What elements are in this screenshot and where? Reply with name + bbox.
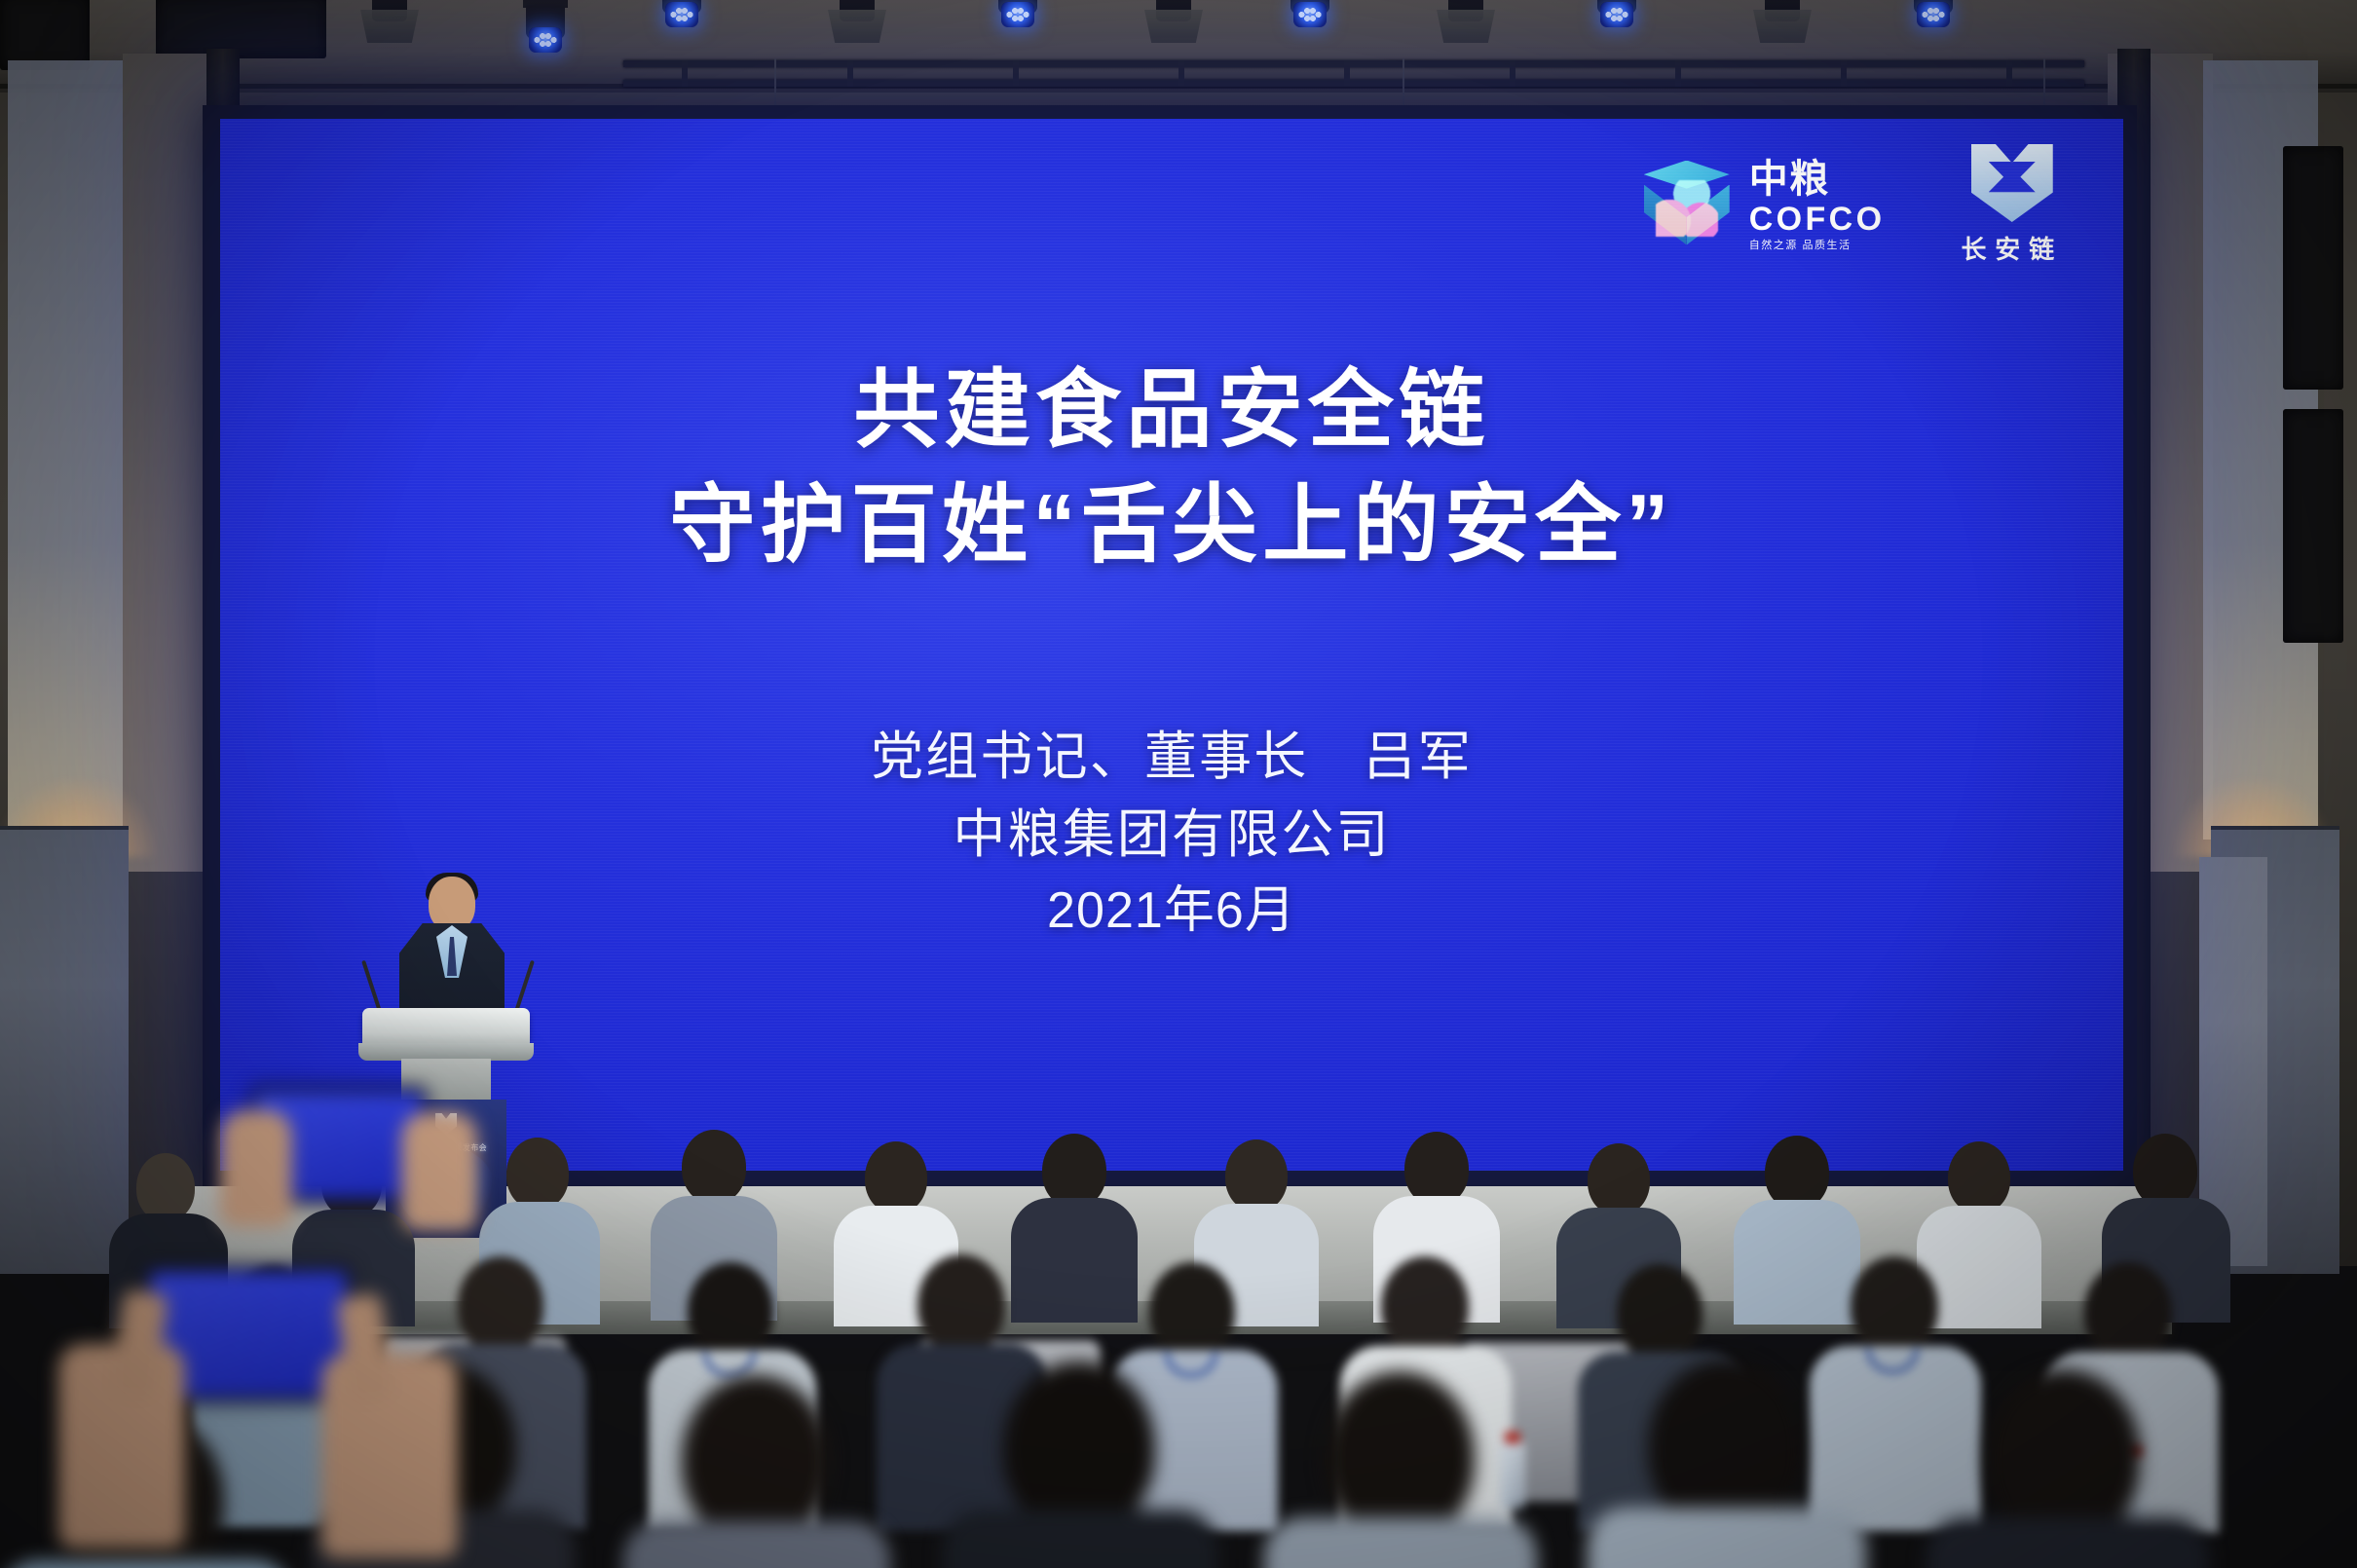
wall-speaker (2283, 409, 2343, 643)
right-wall-assembly (2114, 0, 2357, 1266)
left-wall-assembly (0, 0, 234, 1266)
cofco-english-name: COFCO (1749, 203, 1886, 236)
audience-body (1927, 1517, 2209, 1568)
audience (0, 1120, 2357, 1568)
audience-head (1617, 1264, 1702, 1362)
audience-head (1948, 1141, 2010, 1213)
audience-body (1011, 1198, 1138, 1323)
slide-subtitle-speaker: 党组书记、董事长 吕军 (220, 713, 2123, 790)
audience-head (1404, 1132, 1469, 1206)
cofco-logo: 中粮 COFCO 自然之源 品质生活 (1644, 160, 1886, 251)
wall-speaker (2283, 146, 2343, 390)
audience-head (1325, 1371, 1475, 1541)
changan-chain-name: 长安链 (1961, 230, 2063, 266)
slide-title-line-2: 守护百姓“舌尖上的安全” (220, 456, 2123, 579)
cofco-cube-icon (1644, 161, 1730, 250)
slide-logo-group: 中粮 COFCO 自然之源 品质生活 长安链 (1644, 144, 2063, 266)
slide-subtitle-company: 中粮集团有限公司 (220, 791, 2123, 868)
audience-body (1810, 1346, 1981, 1531)
audience-head (1851, 1256, 1938, 1356)
conference-hall-photo: 中粮 COFCO 自然之源 品质生活 长安链 共建食品安全链 守护百姓“舌尖上的… (0, 0, 2357, 1568)
truss-rail (623, 60, 2084, 67)
audience-head (682, 1130, 746, 1204)
cofco-tagline: 自然之源 品质生活 (1749, 241, 1886, 251)
audience-head (2084, 1262, 2172, 1362)
speaker-head (429, 877, 475, 931)
truss-rail (623, 80, 2084, 87)
audience-body (1734, 1200, 1860, 1325)
audience-head (458, 1256, 543, 1354)
audience-head (917, 1254, 1005, 1354)
audience-head (136, 1153, 195, 1221)
audience-body (623, 1521, 890, 1568)
audience-head (1042, 1134, 1106, 1208)
audience-head (865, 1141, 927, 1213)
audience-body (943, 1510, 1217, 1568)
hand (401, 1112, 477, 1231)
changan-chain-logo: 长安链 (1961, 144, 2063, 266)
audience-head (688, 1262, 773, 1360)
audience-head (1149, 1262, 1235, 1360)
audience-head (2133, 1134, 2197, 1208)
audience-head (682, 1375, 830, 1543)
audience-head (1225, 1139, 1288, 1212)
audience-head (1381, 1256, 1469, 1356)
changan-chain-shield-icon (1971, 144, 2053, 222)
audience-head (506, 1138, 569, 1210)
audience-body (1588, 1508, 1866, 1568)
cofco-chinese-name: 中粮 (1749, 160, 1886, 199)
wall-panel-metal (8, 60, 123, 840)
lighting-truss (623, 60, 2084, 88)
audience-body (0, 1560, 292, 1568)
audience-body (1264, 1517, 1537, 1568)
audience-head (1588, 1143, 1650, 1215)
water-bottle (1500, 1441, 1525, 1510)
audience-head (1765, 1136, 1829, 1210)
audience-head (1003, 1362, 1155, 1533)
slide-title-line-1: 共建食品安全链 (220, 341, 2123, 465)
ceiling-speaker (156, 0, 326, 58)
hand (220, 1110, 292, 1227)
